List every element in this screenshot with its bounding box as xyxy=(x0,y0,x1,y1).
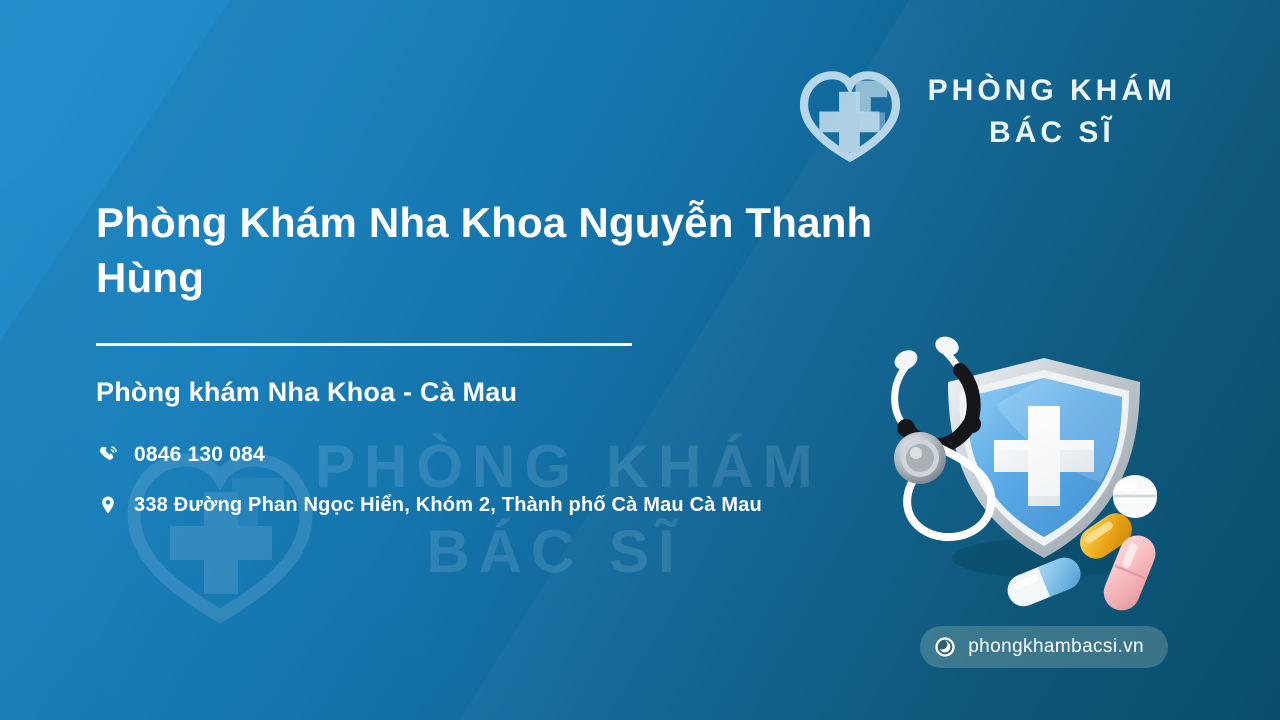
watermark-line-2: BÁC SĨ xyxy=(315,521,835,582)
clinic-address: 338 Đường Phan Ngọc Hiển, Khóm 2, Thành … xyxy=(134,491,762,520)
chest-piece xyxy=(894,432,946,484)
brand-logo-line-2: BÁC SĨ xyxy=(928,117,1176,149)
clinic-subtitle: Phòng khám Nha Khoa - Cà Mau xyxy=(96,377,896,408)
address-row[interactable]: 338 Đường Phan Ngọc Hiển, Khóm 2, Thành … xyxy=(96,491,896,520)
clinic-info: Phòng Khám Nha Khoa Nguyễn Thanh Hùng Ph… xyxy=(96,196,896,520)
phone-number: 0846 130 084 xyxy=(134,440,265,470)
phone-call-icon xyxy=(96,443,120,467)
medical-cross-heart-icon xyxy=(794,60,906,164)
white-tablet xyxy=(1113,475,1157,518)
brand-logo: PHÒNG KHÁM BÁC SĨ xyxy=(794,60,1176,164)
medical-shield-stethoscope-pills-illustration xyxy=(848,320,1184,620)
website-badge[interactable]: phongkhambacsi.vn xyxy=(920,626,1168,668)
globe-icon xyxy=(934,636,956,658)
website-url: phongkhambacsi.vn xyxy=(968,636,1144,658)
map-pin-icon xyxy=(96,493,120,517)
phone-row[interactable]: 0846 130 084 xyxy=(96,440,896,470)
brand-logo-line-1: PHÒNG KHÁM xyxy=(928,75,1176,107)
page-title: Phòng Khám Nha Khoa Nguyễn Thanh Hùng xyxy=(96,196,896,305)
clinic-banner: PHÒNG KHÁM BÁC SĨ PHÒNG KHÁM BÁC SĨ Phòn… xyxy=(0,0,1280,720)
brand-logo-text: PHÒNG KHÁM BÁC SĨ xyxy=(928,75,1176,149)
title-divider xyxy=(96,343,632,346)
